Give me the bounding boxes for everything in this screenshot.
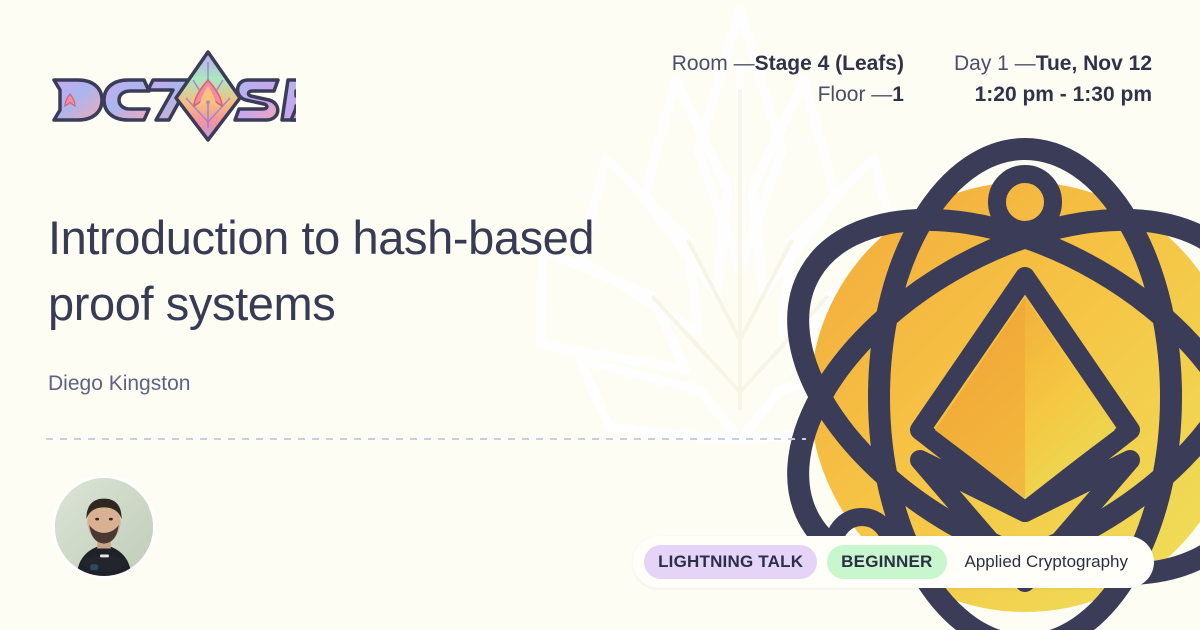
tag-group: LIGHTNING TALK BEGINNER Applied Cryptogr… bbox=[633, 536, 1154, 588]
meta-room-line: Room —Stage 4 (Leafs) bbox=[672, 48, 904, 79]
meta-floor-label: Floor — bbox=[818, 83, 893, 106]
tag-format[interactable]: LIGHTNING TALK bbox=[644, 545, 817, 579]
section-divider bbox=[46, 438, 806, 440]
tag-level[interactable]: BEGINNER bbox=[827, 545, 946, 579]
speaker-name: Diego Kingston bbox=[48, 372, 190, 396]
tag-track[interactable]: Applied Cryptography bbox=[957, 552, 1132, 572]
dc7-sea-logo bbox=[48, 46, 296, 146]
meta-room-value: Stage 4 (Leafs) bbox=[755, 52, 904, 75]
meta-time-value: 1:20 pm - 1:30 pm bbox=[954, 79, 1152, 110]
meta-location: Room —Stage 4 (Leafs) Floor —1 bbox=[672, 48, 904, 110]
meta-schedule: Day 1 —Tue, Nov 12 1:20 pm - 1:30 pm bbox=[954, 48, 1152, 110]
session-title: Introduction to hash-based proof systems bbox=[48, 205, 688, 337]
meta-day-line: Day 1 —Tue, Nov 12 bbox=[954, 48, 1152, 79]
session-card: Room —Stage 4 (Leafs) Floor —1 Day 1 —Tu… bbox=[0, 0, 1200, 630]
speaker-avatar bbox=[52, 475, 156, 579]
meta-day-value: Tue, Nov 12 bbox=[1036, 52, 1152, 75]
meta-day-label: Day 1 — bbox=[954, 52, 1036, 75]
meta-floor-value: 1 bbox=[892, 83, 904, 106]
meta-floor-line: Floor —1 bbox=[672, 79, 904, 110]
session-meta: Room —Stage 4 (Leafs) Floor —1 Day 1 —Tu… bbox=[672, 48, 1152, 110]
meta-room-label: Room — bbox=[672, 52, 755, 75]
